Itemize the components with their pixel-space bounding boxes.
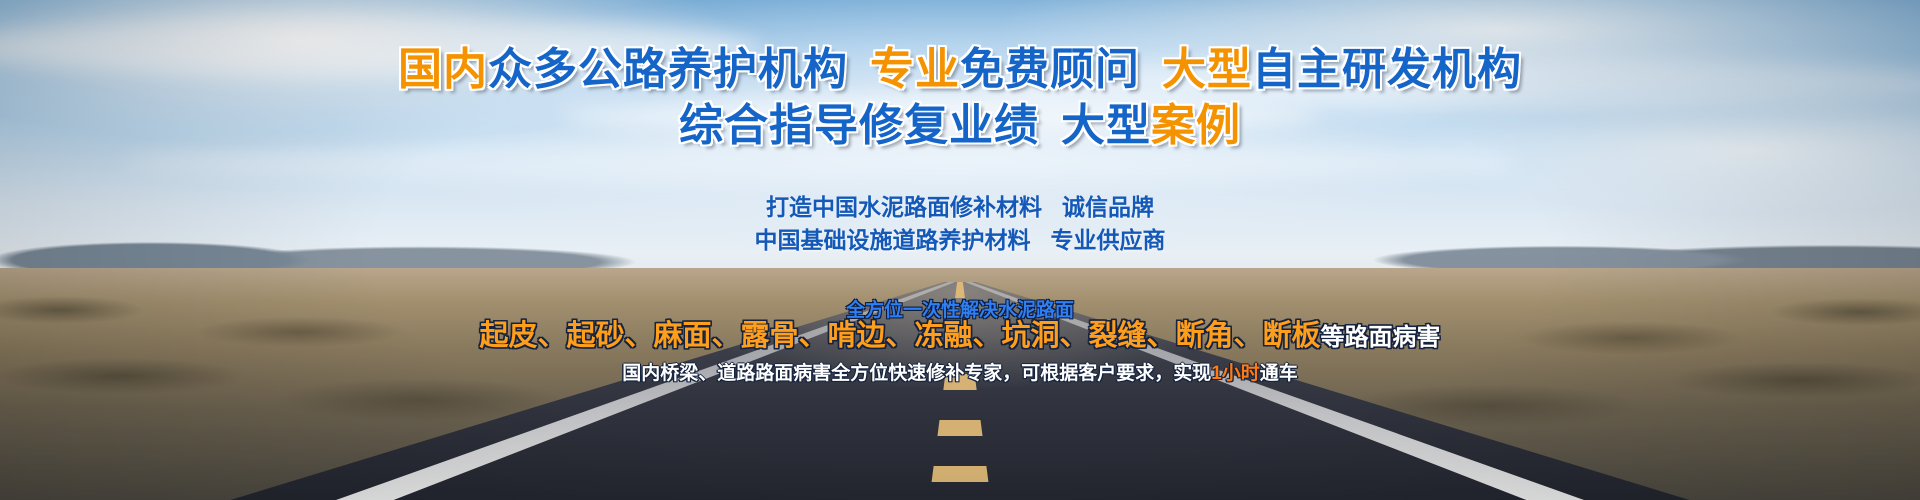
subtitle1-tag: 诚信品牌 bbox=[1062, 194, 1154, 220]
footer-claim-prefix: 国内桥梁、道路路面病害全方位快速修补专家，可根据客户要求，实现 bbox=[622, 363, 1211, 384]
footer-claim-line: 国内桥梁、道路路面病害全方位快速修补专家，可根据客户要求，实现1小时通车 bbox=[0, 358, 1920, 385]
subtitle1-main: 打造中国水泥路面修补材料 bbox=[766, 194, 1042, 220]
headline-line-1: 国内众多公路养护机构专业免费顾问大型自主研发机构 bbox=[0, 44, 1920, 96]
headline1-segment-domestic: 国内 bbox=[398, 45, 488, 94]
defect-types-list: 起皮、起砂、麻面、露骨、啃边、冻融、坑洞、裂缝、断角、断板 bbox=[479, 320, 1320, 352]
defect-types-line: 起皮、起砂、麻面、露骨、啃边、冻融、坑洞、裂缝、断角、断板等路面病害 bbox=[0, 318, 1920, 356]
headline-line-2: 综合指导修复业绩大型案例 bbox=[0, 100, 1920, 152]
footer-claim-highlight: 1小时 bbox=[1211, 363, 1260, 384]
headline2-segment-large: 大型 bbox=[1061, 101, 1151, 150]
headline1-segment-professional: 专业 bbox=[870, 45, 960, 94]
defect-types-suffix: 等路面病害 bbox=[1321, 324, 1441, 351]
footer-claim-suffix: 通车 bbox=[1260, 363, 1298, 384]
headline1-segment-free-consult: 免费顾问 bbox=[960, 45, 1140, 94]
headline1-segment-agencies: 众多公路养护机构 bbox=[488, 45, 848, 94]
headline1-segment-rnd: 自主研发机构 bbox=[1252, 45, 1522, 94]
headline2-segment-cases: 案例 bbox=[1151, 101, 1241, 150]
promo-banner: 国内众多公路养护机构专业免费顾问大型自主研发机构 综合指导修复业绩大型案例 打造… bbox=[0, 0, 1920, 500]
subtitle2-main: 中国基础设施道路养护材料 bbox=[755, 227, 1031, 253]
headline2-segment-guidance: 综合指导修复业绩 bbox=[679, 101, 1039, 150]
headline1-segment-large-scale: 大型 bbox=[1162, 45, 1252, 94]
subtitle-line-2: 中国基础设施道路养护材料专业供应商 bbox=[0, 225, 1920, 255]
subtitle2-tag: 专业供应商 bbox=[1051, 227, 1166, 253]
subtitle-line-1: 打造中国水泥路面修补材料诚信品牌 bbox=[0, 192, 1920, 222]
